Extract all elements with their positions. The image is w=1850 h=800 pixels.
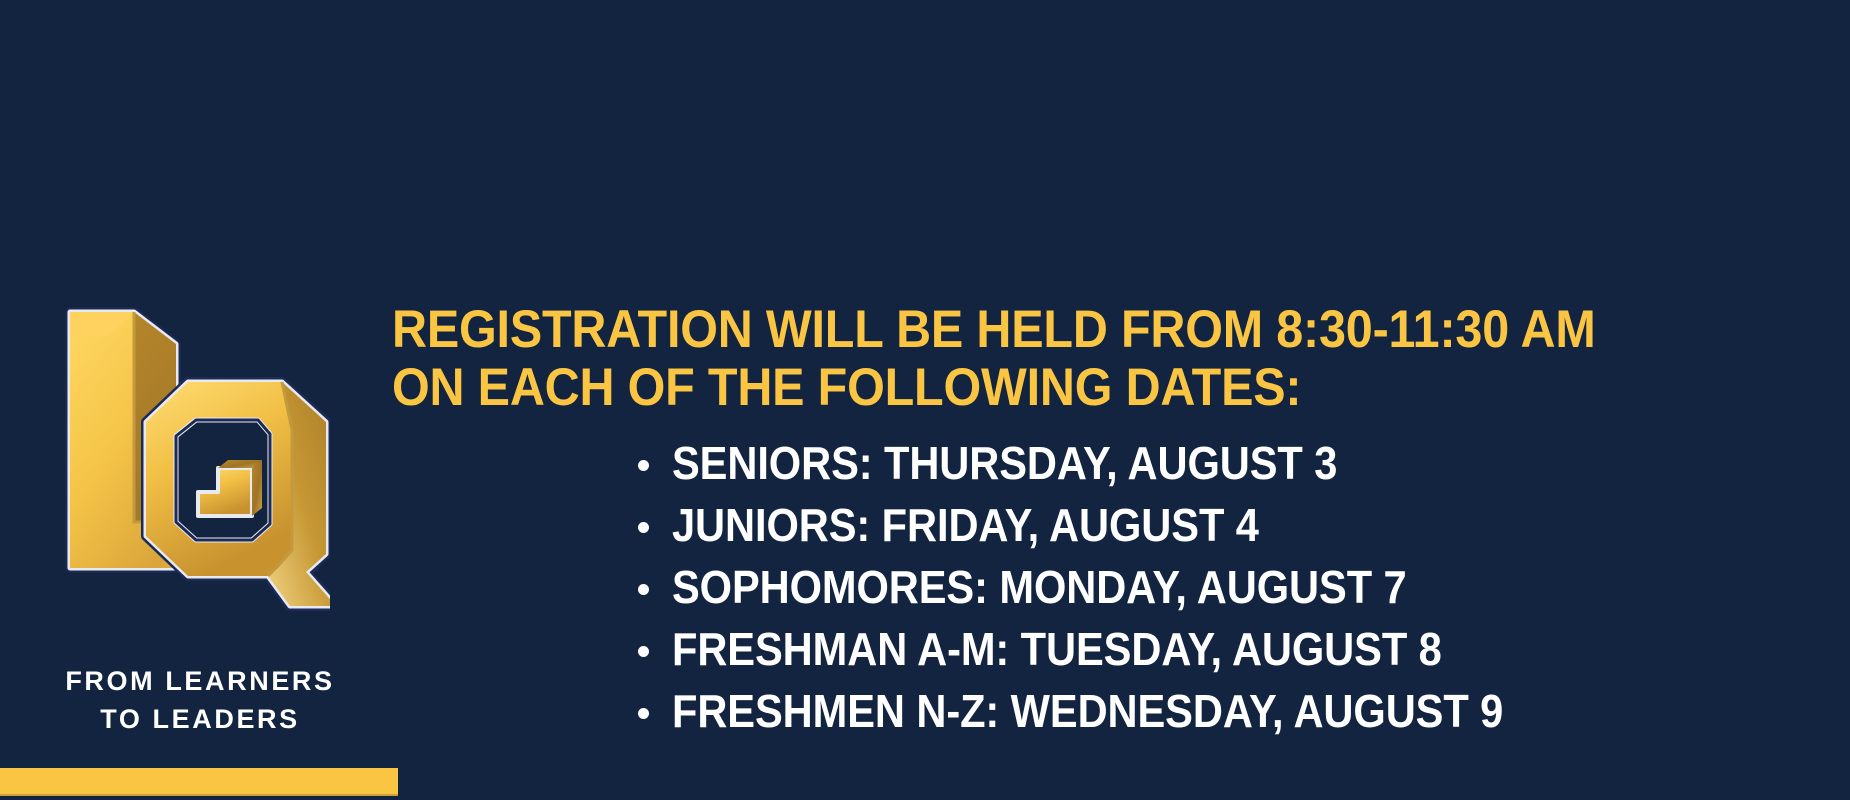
list-item: SENIORS: THURSDAY, AUGUST 3 <box>628 432 1808 494</box>
list-item: SOPHOMORES: MONDAY, AUGUST 7 <box>628 556 1808 618</box>
list-item: JUNIORS: FRIDAY, AUGUST 4 <box>628 494 1808 556</box>
list-item-label: JUNIORS: FRIDAY, AUGUST 4 <box>672 494 1259 556</box>
headline-line-2: ON EACH OF THE FOLLOWING DATES: <box>392 359 1618 417</box>
registration-date-list: SENIORS: THURSDAY, AUGUST 3 JUNIORS: FRI… <box>628 432 1808 742</box>
list-item: FRESHMAN A-M: TUESDAY, AUGUST 8 <box>628 618 1808 680</box>
headline-line-1: REGISTRATION WILL BE HELD FROM 8:30-11:3… <box>392 301 1618 359</box>
list-item-label: FRESHMAN A-M: TUESDAY, AUGUST 8 <box>672 618 1442 680</box>
announcement-headline: REGISTRATION WILL BE HELD FROM 8:30-11:3… <box>392 301 1618 418</box>
announcement-banner: FROM LEARNERS TO LEADERS REGISTRATION WI… <box>0 0 1850 800</box>
bullet-icon <box>638 522 649 533</box>
list-item: FRESHMEN N-Z: WEDNESDAY, AUGUST 9 <box>628 680 1808 742</box>
brand-block: FROM LEARNERS TO LEADERS <box>0 0 400 800</box>
bullet-icon <box>638 460 649 471</box>
brand-tagline-line-1: FROM LEARNERS <box>0 662 400 700</box>
brand-tagline-line-2: TO LEADERS <box>0 700 400 738</box>
lq-monogram-logo-icon <box>58 306 330 616</box>
list-item-label: SOPHOMORES: MONDAY, AUGUST 7 <box>672 556 1407 618</box>
gold-accent-bar <box>0 768 398 796</box>
bullet-icon <box>638 584 649 595</box>
bullet-icon <box>638 646 649 657</box>
list-item-label: SENIORS: THURSDAY, AUGUST 3 <box>672 432 1337 494</box>
bullet-icon <box>638 708 649 719</box>
brand-tagline: FROM LEARNERS TO LEADERS <box>0 662 400 739</box>
list-item-label: FRESHMEN N-Z: WEDNESDAY, AUGUST 9 <box>672 680 1503 742</box>
announcement-content: REGISTRATION WILL BE HELD FROM 8:30-11:3… <box>392 0 1812 800</box>
